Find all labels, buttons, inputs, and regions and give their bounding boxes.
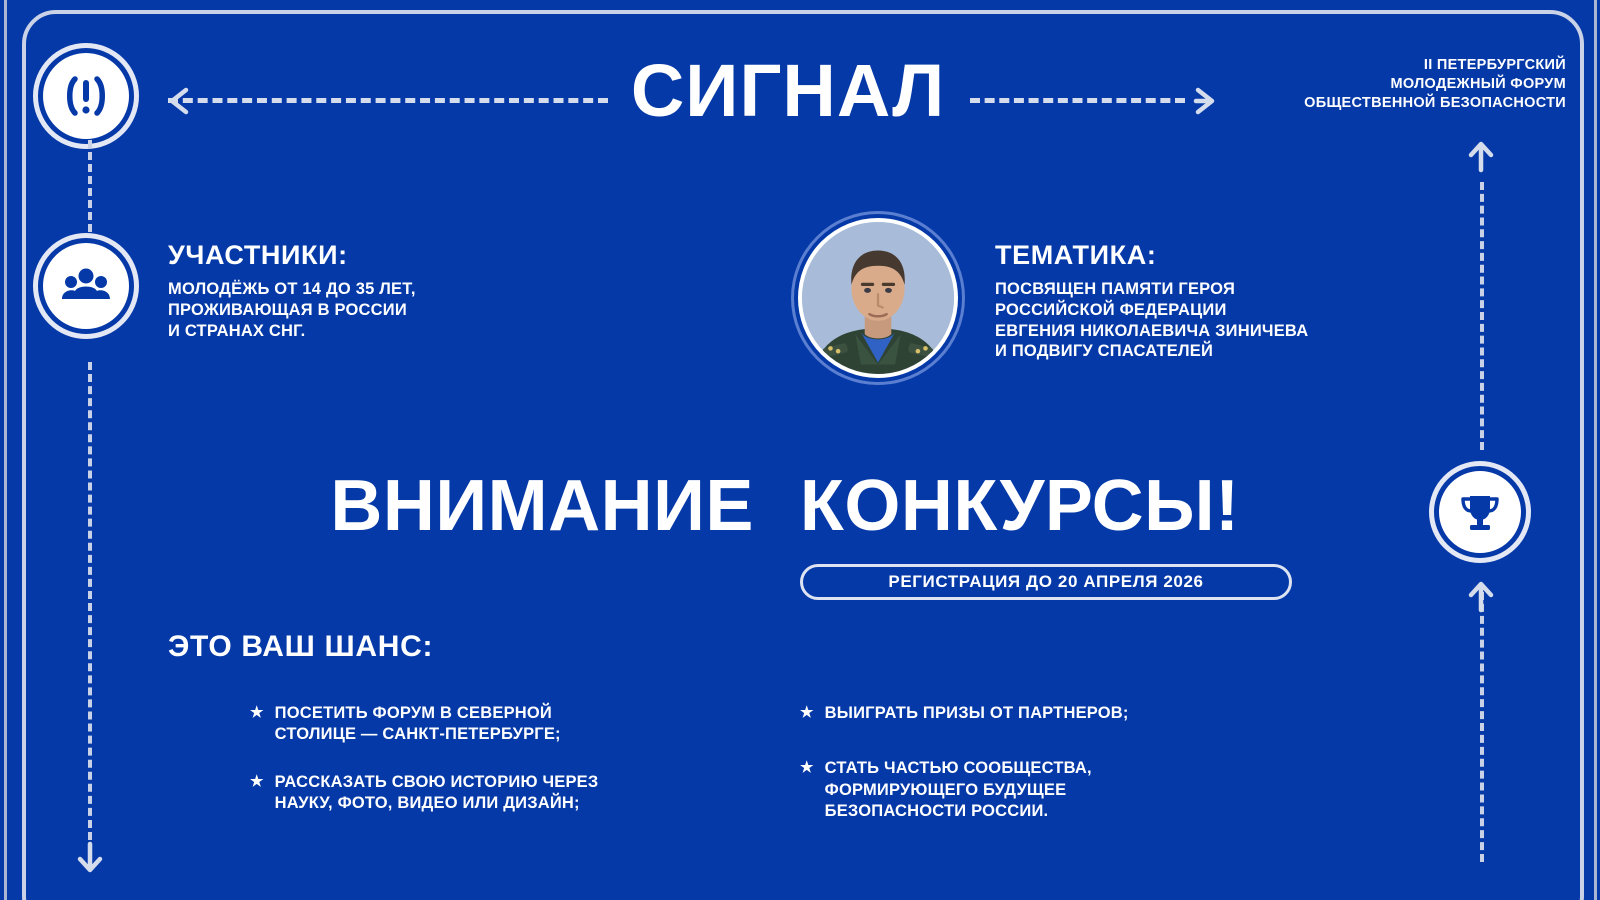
headline-word-contests: КОНКУРСЫ! <box>800 470 1240 542</box>
star-icon: ★ <box>250 772 264 815</box>
list-item-line: СТАТЬ ЧАСТЬЮ СООБЩЕСТВА, <box>825 758 1092 779</box>
registration-badge-label: РЕГИСТРАЦИЯ ДО 20 АПРЕЛЯ 2026 <box>888 572 1203 592</box>
participants-body: МОЛОДЁЖЬ ОТ 14 ДО 35 ЛЕТ, ПРОЖИВАЮЩАЯ В … <box>168 279 416 341</box>
rail-right-lower <box>1480 592 1484 862</box>
list-item-line: ПОСЕТИТЬ ФОРУМ В СЕВЕРНОЙ <box>275 703 561 724</box>
list-item-line: ФОРМИРУЮЩЕГО БУДУЩЕЕ <box>825 780 1092 801</box>
arrow-down-icon <box>75 840 105 874</box>
trophy-icon <box>1434 466 1526 558</box>
thematic-line-1: ПОСВЯЩЕН ПАМЯТИ ГЕРОЯ <box>995 279 1308 300</box>
star-icon: ★ <box>800 703 814 724</box>
list-item-line: НАУКУ, ФОТО, ВИДЕО ИЛИ ДИЗАЙН; <box>275 793 599 814</box>
participants-line-3: И СТРАНАХ СНГ. <box>168 321 416 342</box>
rail-right-upper <box>1480 182 1484 450</box>
thematic-block: ТЕМАТИКА: ПОСВЯЩЕН ПАМЯТИ ГЕРОЯ РОССИЙСК… <box>995 240 1308 362</box>
poster-canvas: СИГНАЛ II ПЕТЕРБУРГСКИЙ МОЛОДЕЖНЫЙ ФОРУМ… <box>0 0 1600 900</box>
list-item-line: БЕЗОПАСНОСТИ РОССИИ. <box>825 801 1092 822</box>
thematic-heading: ТЕМАТИКА: <box>995 240 1308 271</box>
thematic-line-4: И ПОДВИГУ СПАСАТЕЛЕЙ <box>995 341 1308 362</box>
arrow-up-icon-middle <box>1466 580 1496 614</box>
list-item: ★ СТАТЬ ЧАСТЬЮ СООБЩЕСТВА, ФОРМИРУЮЩЕГО … <box>800 758 1129 822</box>
list-item-text: ВЫИГРАТЬ ПРИЗЫ ОТ ПАРТНЕРОВ; <box>825 703 1129 724</box>
rail-left-upper <box>88 140 92 232</box>
thematic-line-3: ЕВГЕНИЯ НИКОЛАЕВИЧА ЗИНИЧЕВА <box>995 321 1308 342</box>
chance-heading: ЭТО ВАШ ШАНС: <box>168 630 433 664</box>
forum-name-line-3: ОБЩЕСТВЕННОЙ БЕЗОПАСНОСТИ <box>1246 94 1566 113</box>
chance-bullets-right: ★ ВЫИГРАТЬ ПРИЗЫ ОТ ПАРТНЕРОВ; ★ СТАТЬ Ч… <box>800 703 1129 849</box>
headline: ВНИМАНИЕ КОНКУРСЫ! <box>0 470 1585 542</box>
poster-header: СИГНАЛ II ПЕТЕРБУРГСКИЙ МОЛОДЕЖНЫЙ ФОРУМ… <box>0 26 1600 136</box>
registration-badge[interactable]: РЕГИСТРАЦИЯ ДО 20 АПРЕЛЯ 2026 <box>800 564 1292 600</box>
thematic-line-2: РОССИЙСКОЙ ФЕДЕРАЦИИ <box>995 300 1308 321</box>
headline-word-attention: ВНИМАНИЕ <box>330 470 753 542</box>
list-item-text: ПОСЕТИТЬ ФОРУМ В СЕВЕРНОЙ СТОЛИЦЕ — САНК… <box>275 703 561 746</box>
arrow-right-icon <box>1188 84 1222 118</box>
list-item: ★ ПОСЕТИТЬ ФОРУМ В СЕВЕРНОЙ СТОЛИЦЕ — СА… <box>250 703 598 746</box>
arrow-up-icon-top <box>1466 140 1496 174</box>
avatar <box>798 218 958 378</box>
list-item: ★ ВЫИГРАТЬ ПРИЗЫ ОТ ПАРТНЕРОВ; <box>800 703 1129 724</box>
list-item-text: РАССКАЗАТЬ СВОЮ ИСТОРИЮ ЧЕРЕЗ НАУКУ, ФОТ… <box>275 772 599 815</box>
list-item: ★ РАССКАЗАТЬ СВОЮ ИСТОРИЮ ЧЕРЕЗ НАУКУ, Ф… <box>250 772 598 815</box>
chance-bullets-left: ★ ПОСЕТИТЬ ФОРУМ В СЕВЕРНОЙ СТОЛИЦЕ — СА… <box>250 703 598 841</box>
thematic-body: ПОСВЯЩЕН ПАМЯТИ ГЕРОЯ РОССИЙСКОЙ ФЕДЕРАЦ… <box>995 279 1308 362</box>
list-item-line: СТОЛИЦЕ — САНКТ-ПЕТЕРБУРГЕ; <box>275 724 561 745</box>
participants-block: УЧАСТНИКИ: МОЛОДЁЖЬ ОТ 14 ДО 35 ЛЕТ, ПРО… <box>168 240 416 341</box>
forum-name: II ПЕТЕРБУРГСКИЙ МОЛОДЕЖНЫЙ ФОРУМ ОБЩЕСТ… <box>1246 56 1566 113</box>
forum-name-line-2: МОЛОДЕЖНЫЙ ФОРУМ <box>1246 75 1566 94</box>
participants-line-1: МОЛОДЁЖЬ ОТ 14 ДО 35 ЛЕТ, <box>168 279 416 300</box>
people-group-icon <box>38 238 134 334</box>
star-icon: ★ <box>250 703 264 746</box>
forum-name-line-1: II ПЕТЕРБУРГСКИЙ <box>1246 56 1566 75</box>
title-dashed-line-right <box>970 98 1185 103</box>
list-item-text: СТАТЬ ЧАСТЬЮ СООБЩЕСТВА, ФОРМИРУЮЩЕГО БУ… <box>825 758 1092 822</box>
list-item-line: ВЫИГРАТЬ ПРИЗЫ ОТ ПАРТНЕРОВ; <box>825 703 1129 724</box>
participants-line-2: ПРОЖИВАЮЩАЯ В РОССИИ <box>168 300 416 321</box>
rail-left-lower <box>88 362 92 840</box>
list-item-line: РАССКАЗАТЬ СВОЮ ИСТОРИЮ ЧЕРЕЗ <box>275 772 599 793</box>
star-icon: ★ <box>800 758 814 822</box>
participants-heading: УЧАСТНИКИ: <box>168 240 416 271</box>
